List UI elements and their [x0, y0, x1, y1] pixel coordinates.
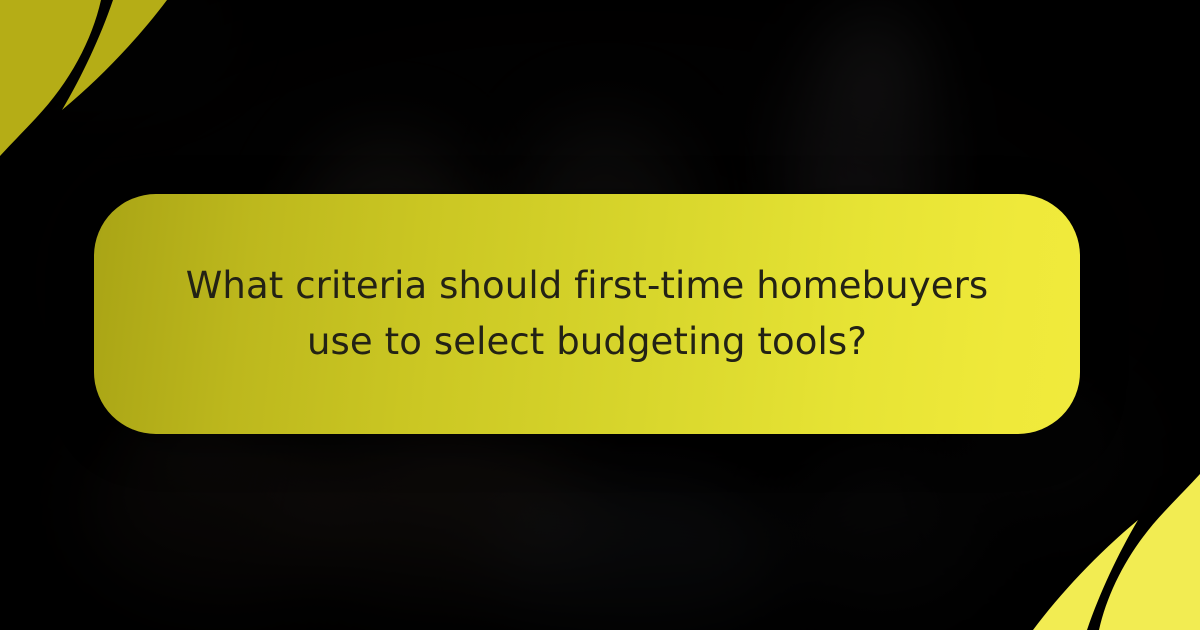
quote-card-graphic: What criteria should first-time homebuye… — [0, 0, 1200, 630]
question-line-2: use to select budgeting tools? — [163, 314, 1011, 370]
question-line-1: What criteria should first-time homebuye… — [163, 258, 1011, 314]
question-card: What criteria should first-time homebuye… — [94, 194, 1080, 434]
question-text: What criteria should first-time homebuye… — [163, 258, 1011, 370]
